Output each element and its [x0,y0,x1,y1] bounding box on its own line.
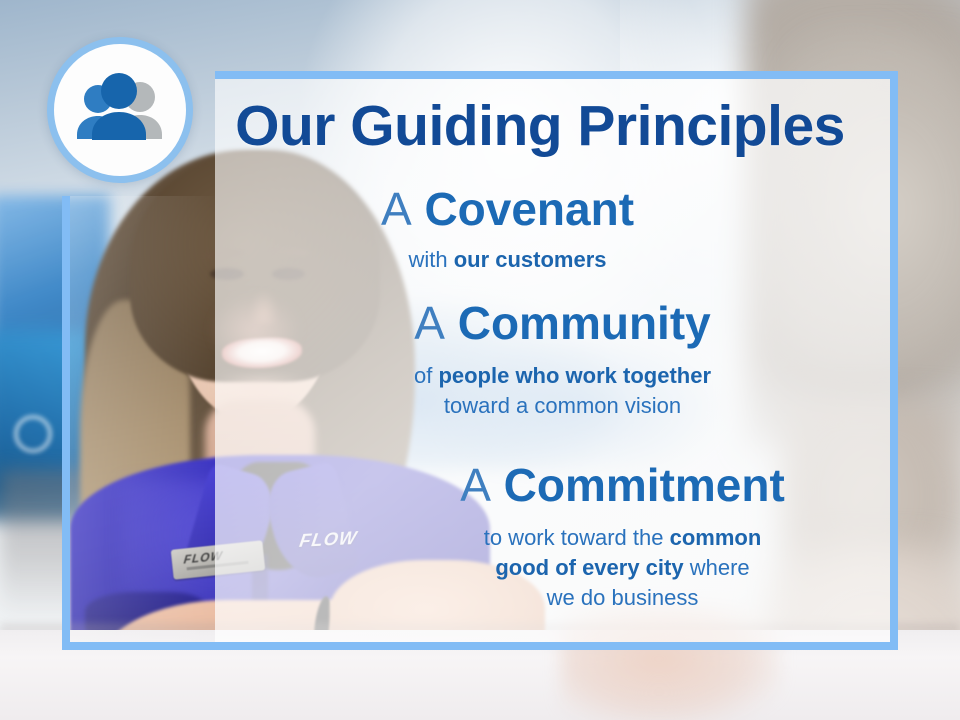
principle-heading: A Community [235,295,890,351]
text-segment: we do business [547,585,699,610]
text-segment: to work toward the [484,525,670,550]
text-segment-bold: good of every city [495,555,683,580]
principle-covenant: A Covenant with our customers [180,181,835,275]
principle-article: A [381,183,412,235]
principle-body-line: of people who work together [235,361,890,391]
principle-community: A Community of people who work together … [235,295,890,421]
people-group-icon-badge [47,37,193,183]
frame-border-left [62,196,70,650]
principle-commitment: A Commitment to work toward the common g… [295,457,950,613]
page-title: Our Guiding Principles [215,93,865,159]
principle-body-line: good of every city where [295,553,950,583]
text-segment: of [414,363,438,388]
principle-keyword: Community [458,297,711,349]
text-segment-bold: common [670,525,762,550]
text-segment: toward a common vision [444,393,681,418]
dealership-logo-blur [14,415,52,453]
text-segment-bold: our customers [454,247,607,272]
principle-keyword: Covenant [424,183,634,235]
principle-body: to work toward the common good of every … [295,523,950,613]
principle-body-line: toward a common vision [235,391,890,421]
principle-keyword: Commitment [504,459,785,511]
principle-heading: A Commitment [295,457,950,513]
principle-article: A [460,459,491,511]
principle-body: with our customers [180,245,835,275]
text-segment-bold: people who work together [438,363,711,388]
principle-article: A [414,297,445,349]
principle-heading: A Covenant [180,181,835,237]
content-block: Our Guiding Principles A Covenant with o… [215,73,890,646]
principle-body: of people who work together toward a com… [235,361,890,421]
principle-body-line: we do business [295,583,950,613]
text-segment: where [684,555,750,580]
people-group-icon [68,71,172,149]
principle-body-line: with our customers [180,245,835,275]
text-segment: with [408,247,453,272]
principle-body-line: to work toward the common [295,523,950,553]
